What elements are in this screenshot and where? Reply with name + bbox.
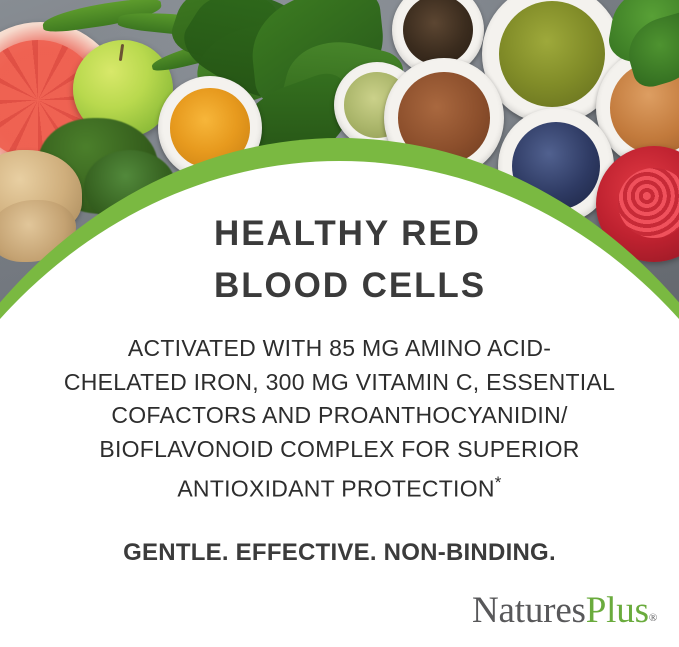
body-line-5-text: ANTIOXIDANT PROTECTION: [177, 476, 494, 502]
page-title: HEALTHY RED BLOOD CELLS: [214, 208, 654, 312]
logo-text-plus: Plus: [586, 590, 649, 631]
body-line-5: ANTIOXIDANT PROTECTION*: [36, 466, 643, 506]
tagline: GENTLE. EFFECTIVE. NON-BINDING.: [36, 539, 643, 567]
body-line-2: CHELATED IRON, 300 MG VITAMIN C, ESSENTI…: [36, 366, 643, 400]
content-layer: HEALTHY RED BLOOD CELLS ACTIVATED WITH 8…: [0, 0, 679, 647]
body-line-3: COFACTORS AND PROANTHOCYANIDIN/: [36, 399, 643, 433]
naturesplus-logo[interactable]: NaturesPlus®: [472, 591, 657, 639]
banner-canvas: HEALTHY RED BLOOD CELLS ACTIVATED WITH 8…: [0, 0, 679, 647]
body-line-1: ACTIVATED WITH 85 MG AMINO ACID-: [36, 332, 643, 366]
product-description: ACTIVATED WITH 85 MG AMINO ACID- CHELATE…: [36, 332, 643, 506]
logo-text-natures: Natures: [472, 590, 586, 631]
registered-trademark-icon: ®: [649, 612, 657, 624]
body-line-4: BIOFLAVONOID COMPLEX FOR SUPERIOR: [36, 433, 643, 467]
footnote-asterisk: *: [495, 473, 502, 492]
headline-line-1: HEALTHY RED: [214, 208, 654, 260]
headline-line-2: BLOOD CELLS: [214, 260, 654, 312]
